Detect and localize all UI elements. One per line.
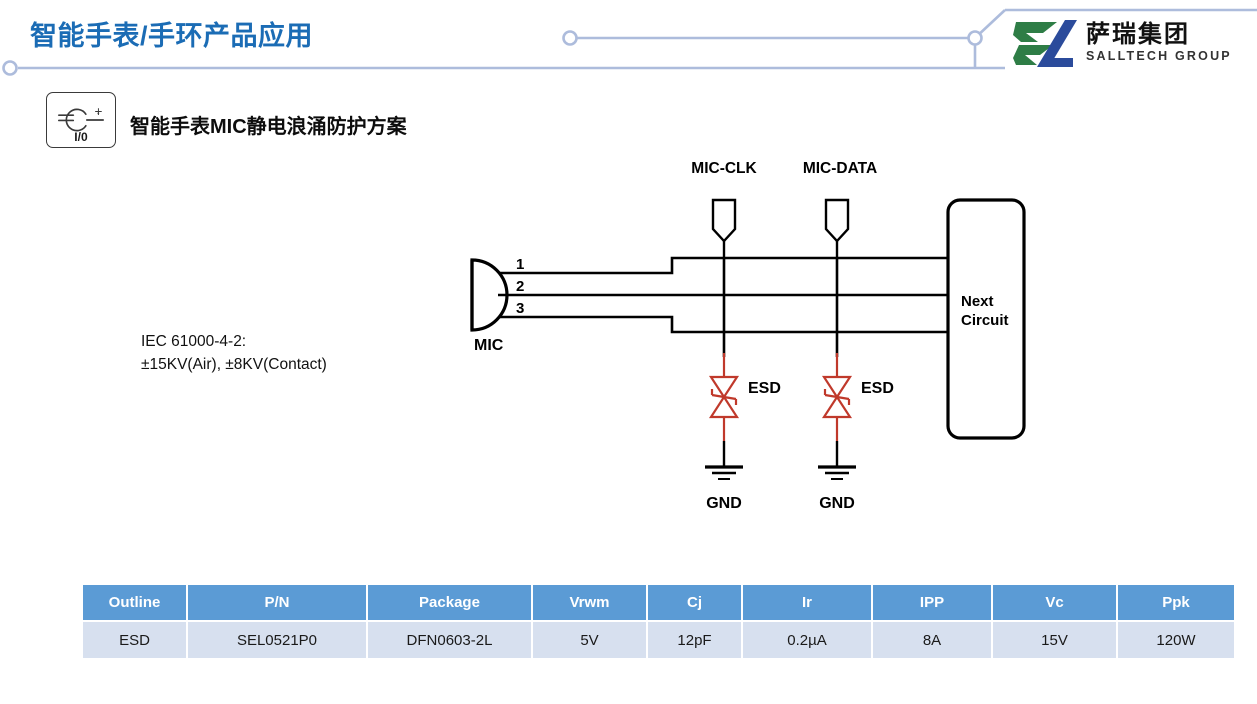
next-circuit-line-1: Next xyxy=(961,293,994,310)
page-title: 智能手表/手环产品应用 xyxy=(30,14,313,53)
io-badge-label: I/0 xyxy=(74,130,88,144)
cell-ipp: 8A xyxy=(872,621,992,659)
io-badge-plus: + xyxy=(95,104,103,119)
mic-pin-2-label: 2 xyxy=(516,278,524,295)
ground-symbol-1 xyxy=(705,467,743,479)
table-header-vrwm: Vrwm xyxy=(532,584,647,621)
table-header-row: Outline P/N Package Vrwm Cj Ir IPP Vc Pp… xyxy=(82,584,1235,621)
iec-line-1: IEC 61000-4-2: xyxy=(141,330,327,353)
esd-label-2: ESD xyxy=(861,380,894,397)
table-header-cj: Cj xyxy=(647,584,742,621)
iec-standard-note: IEC 61000-4-2: ±15KV(Air), ±8KV(Contact) xyxy=(141,330,327,377)
esd-device-1: ESD xyxy=(711,353,781,467)
mic-pin-1-label: 1 xyxy=(516,256,524,273)
spec-table: Outline P/N Package Vrwm Cj Ir IPP Vc Pp… xyxy=(81,583,1236,660)
gnd-label-2: GND xyxy=(819,495,855,512)
cell-package: DFN0603-2L xyxy=(367,621,532,659)
testpoint-mic-data: MIC-DATA xyxy=(803,160,877,258)
mic-label: MIC xyxy=(474,337,504,354)
logo-english-name: SALLTECH GROUP xyxy=(1086,49,1232,64)
io-badge-icon: + I/0 xyxy=(46,92,116,148)
cell-vrwm: 5V xyxy=(532,621,647,659)
mic-pin-3-label: 3 xyxy=(516,300,524,317)
table-header-outline: Outline xyxy=(82,584,187,621)
table-header-ipp: IPP xyxy=(872,584,992,621)
section-title: 智能手表MIC静电浪涌防护方案 xyxy=(130,110,407,139)
esd-device-2: ESD xyxy=(824,353,894,467)
testpoint-mic-clk-label: MIC-CLK xyxy=(691,160,757,177)
esd-label-1: ESD xyxy=(748,380,781,397)
testpoint-mic-clk: MIC-CLK xyxy=(691,160,757,258)
next-circuit-block: Next Circuit xyxy=(948,200,1024,438)
cell-vc: 15V xyxy=(992,621,1117,659)
table-header-ir: Ir xyxy=(742,584,872,621)
testpoint-mic-data-label: MIC-DATA xyxy=(803,160,877,177)
cell-cj: 12pF xyxy=(647,621,742,659)
ground-symbol-2 xyxy=(818,467,856,479)
cell-ir: 0.2µA xyxy=(742,621,872,659)
iec-line-2: ±15KV(Air), ±8KV(Contact) xyxy=(141,353,327,376)
table-header-pn: P/N xyxy=(187,584,367,621)
table-row: ESD SEL0521P0 DFN0603-2L 5V 12pF 0.2µA 8… xyxy=(82,621,1235,659)
table-header-vc: Vc xyxy=(992,584,1117,621)
table-header-ppk: Ppk xyxy=(1117,584,1235,621)
salltech-logo-icon xyxy=(1013,20,1079,67)
cell-pn: SEL0521P0 xyxy=(187,621,367,659)
table-header-package: Package xyxy=(367,584,532,621)
next-circuit-line-2: Circuit xyxy=(961,312,1009,329)
logo-chinese-name: 萨瑞集团 xyxy=(1086,22,1232,47)
gnd-label-1: GND xyxy=(706,495,742,512)
company-logo: 萨瑞集团 SALLTECH GROUP xyxy=(1013,14,1245,72)
schematic-diagram: 1 2 3 MIC MIC-CLK MIC-DATA ESD xyxy=(440,145,1060,545)
cell-ppk: 120W xyxy=(1117,621,1235,659)
page-header: 智能手表/手环产品应用 萨瑞集团 SALLTECH GROUP xyxy=(0,0,1257,90)
cell-outline: ESD xyxy=(82,621,187,659)
